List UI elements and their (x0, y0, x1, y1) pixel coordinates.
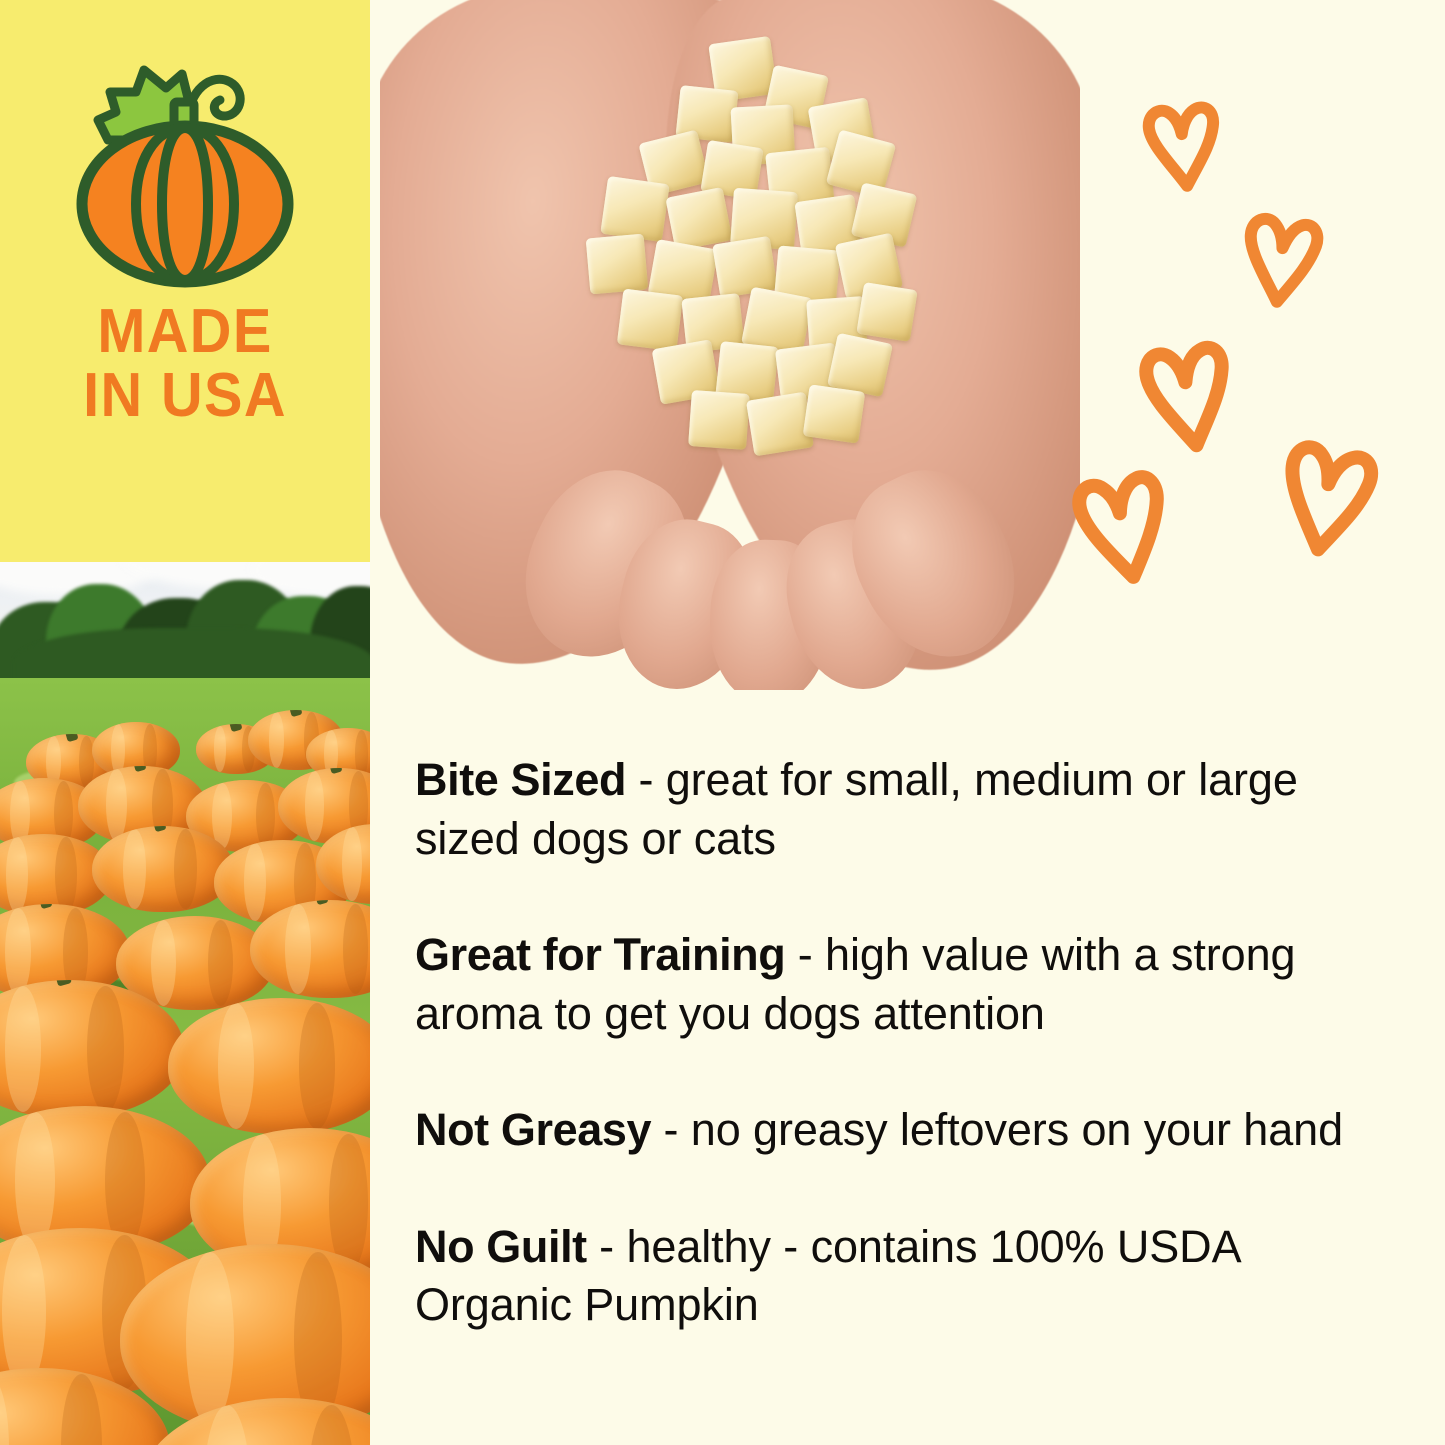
feature-item: Bite Sized - great for small, medium or … (415, 751, 1385, 868)
pumpkin-patch-photo (0, 528, 370, 1445)
heart-doodle-icon (1130, 331, 1245, 464)
heart-doodle-icon (1232, 205, 1330, 315)
left-column: MADE IN USA (0, 0, 370, 1445)
heart-doodle-icon (1267, 431, 1385, 567)
heart-doodle-icon (1063, 459, 1184, 597)
made-in-usa-badge: MADE IN USA (0, 0, 370, 562)
heart-doodles (1080, 90, 1445, 650)
badge-line-1: MADE (13, 300, 357, 364)
zigzag-divider (0, 528, 370, 562)
pumpkin-treat-cubes (560, 40, 920, 470)
feature-item: Not Greasy - no greasy leftovers on your… (415, 1101, 1385, 1160)
feature-lead: Bite Sized (415, 754, 626, 805)
made-in-usa-text: MADE IN USA (0, 300, 370, 428)
feature-item: Great for Training - high value with a s… (415, 926, 1385, 1043)
feature-rest: - no greasy leftovers on your hand (651, 1104, 1343, 1155)
badge-line-2: IN USA (13, 364, 357, 428)
feature-lead: Not Greasy (415, 1104, 651, 1155)
hands-holding-pumpkin-treats-photo (380, 0, 1080, 690)
heart-doodle-icon (1137, 94, 1229, 198)
feature-item: No Guilt - healthy - contains 100% USDA … (415, 1218, 1385, 1335)
product-infographic: MADE IN USA (0, 0, 1445, 1445)
feature-list: Bite Sized - great for small, medium or … (415, 706, 1385, 1335)
pumpkin-icon (70, 48, 300, 288)
feature-lead: Great for Training (415, 929, 785, 980)
feature-lead: No Guilt (415, 1221, 587, 1272)
